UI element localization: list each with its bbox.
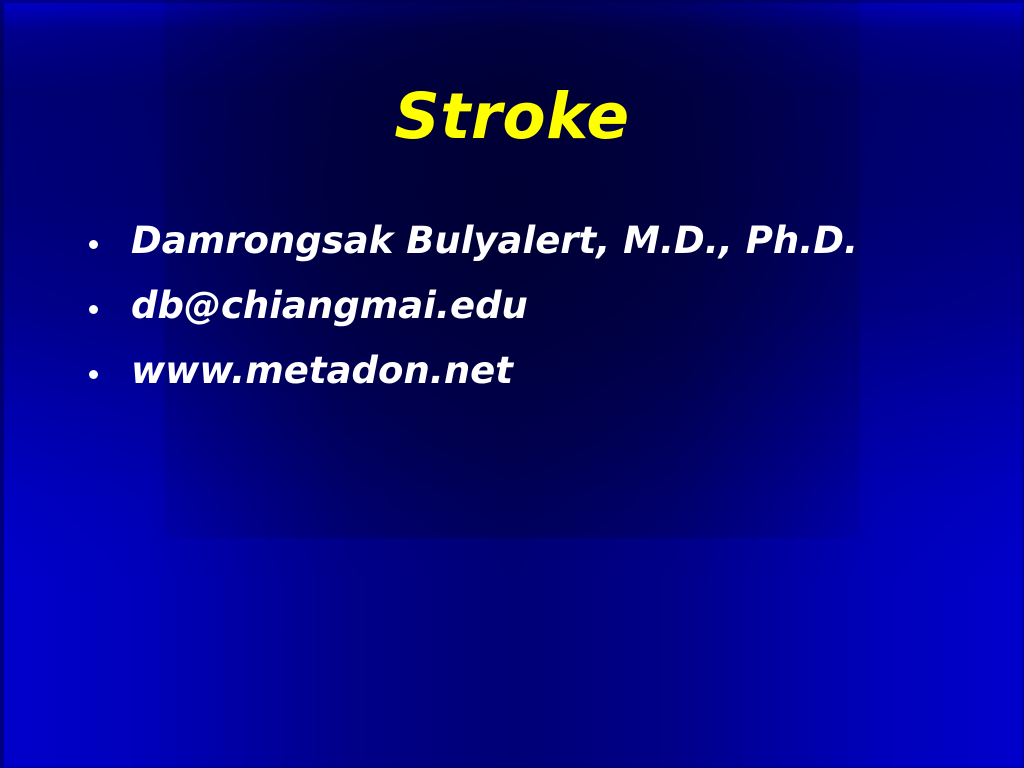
- bullet-dot-icon: [86, 352, 131, 379]
- list-item-label: www.metadon.net: [131, 352, 966, 389]
- slide-bullet-list: Damrongsak Bulyalert, M.D., Ph.D. db@chi…: [86, 222, 966, 417]
- bullet-dot-icon: [86, 222, 131, 249]
- list-item-label: db@chiangmai.edu: [131, 287, 966, 324]
- list-item: db@chiangmai.edu: [86, 287, 966, 352]
- list-item-label: Damrongsak Bulyalert, M.D., Ph.D.: [131, 222, 966, 259]
- slide-title: Stroke: [0, 84, 1024, 150]
- bullet-dot-icon: [86, 287, 131, 314]
- list-item: www.metadon.net: [86, 352, 966, 417]
- list-item: Damrongsak Bulyalert, M.D., Ph.D.: [86, 222, 966, 287]
- presentation-slide: Stroke Damrongsak Bulyalert, M.D., Ph.D.…: [0, 0, 1024, 768]
